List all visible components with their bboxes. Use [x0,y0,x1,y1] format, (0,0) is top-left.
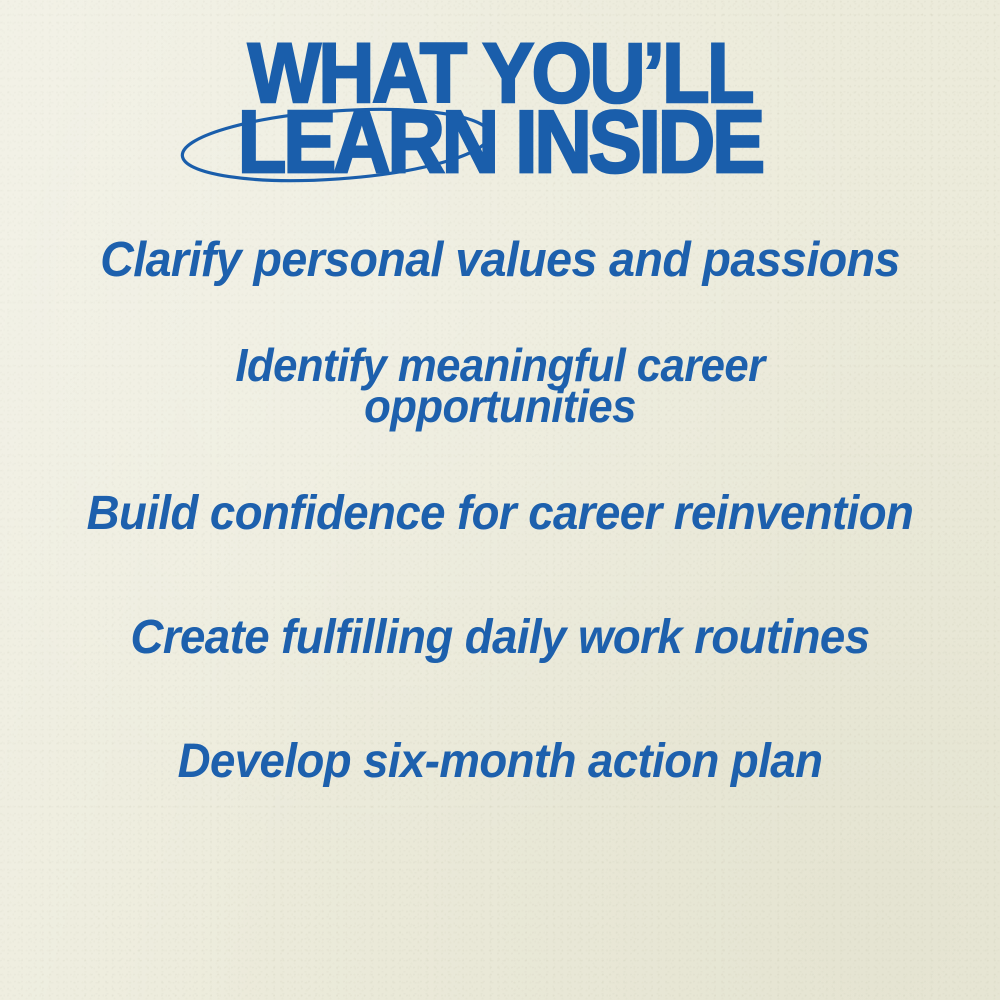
list-item: Build confidence for career reinvention [25,490,975,538]
list-item: Identify meaningful career opportunities [25,345,975,428]
learning-points-list: Clarify personal values and passions Ide… [0,236,1000,786]
page-title-line-2: LEARN INSIDE [50,107,950,177]
list-item: Clarify personal values and passions [25,236,975,285]
page-title: WHAT YOU’LL LEARN INSIDE [0,40,1000,178]
list-item: Develop six-month action plan [25,738,975,786]
list-item: Create fulfilling daily work routines [25,614,975,662]
